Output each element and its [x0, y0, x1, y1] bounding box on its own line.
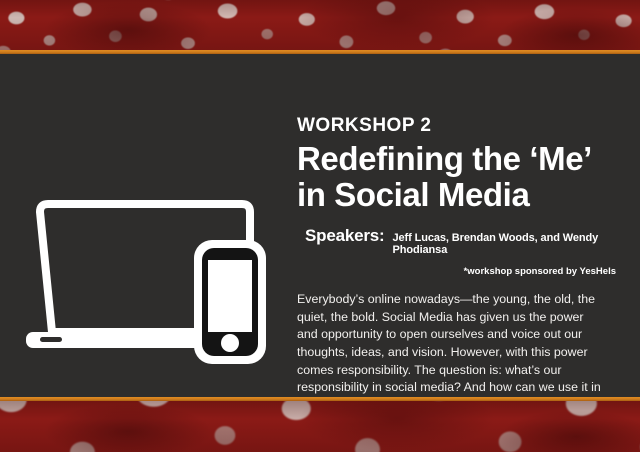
crowd-photo-band-top [0, 0, 640, 50]
speakers-row: Speakers: Jeff Lucas, Brendan Woods, and… [297, 226, 622, 256]
workshop-kicker: WORKSHOP 2 [297, 116, 622, 137]
speakers-label: Speakers: [305, 226, 384, 246]
crowd-photo-band-bottom [0, 401, 640, 452]
smartphone-icon [194, 240, 266, 364]
crowd-photo-bottom [0, 401, 640, 452]
devices-illustration [24, 192, 282, 372]
workshop-poster: WORKSHOP 2 Redefining the ‘Me’ in Social… [0, 0, 640, 452]
sponsor-note: *workshop sponsored by YesHels [297, 266, 622, 277]
body-copy: Everybody’s online nowadays—the young, t… [297, 291, 607, 414]
crowd-photo-top [0, 0, 640, 50]
page-title: Redefining the ‘Me’ in Social Media [297, 141, 622, 212]
main-panel: WORKSHOP 2 Redefining the ‘Me’ in Social… [0, 54, 640, 397]
speakers-names: Jeff Lucas, Brendan Woods, and Wendy Pho… [392, 232, 622, 256]
